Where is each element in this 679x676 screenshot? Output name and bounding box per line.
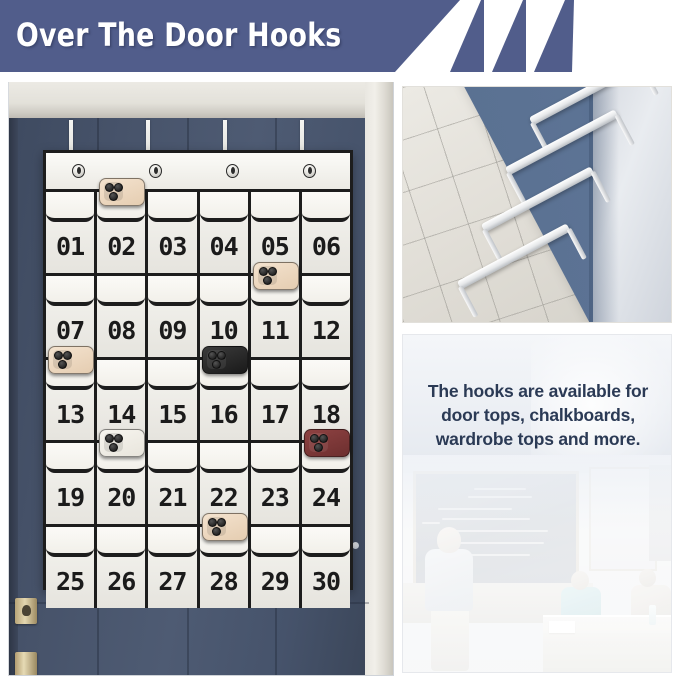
- pocket-number: 20: [97, 483, 145, 512]
- pocket-21: 21: [148, 443, 199, 524]
- phone-in-pocket-11: [253, 262, 299, 290]
- pocket-row: 131415161718: [46, 360, 350, 441]
- pocket-number: 01: [46, 232, 94, 261]
- pocket-18: 18: [302, 360, 350, 441]
- pocket-lip: [148, 443, 196, 473]
- pocket-15: 15: [148, 360, 199, 441]
- pocket-lip: [46, 276, 94, 306]
- phone-in-pocket-24: [304, 429, 350, 457]
- pocket-number: 16: [200, 400, 248, 429]
- door-frame-left: [9, 118, 18, 675]
- pocket-number: 09: [148, 316, 196, 345]
- keyhole-icon: [22, 605, 31, 616]
- pocket-28: 28: [200, 527, 251, 608]
- pocket-number: 15: [148, 400, 196, 429]
- camera-lens-icon: [212, 527, 221, 536]
- pocket-22: 22: [200, 443, 251, 524]
- classroom-photo: [403, 455, 671, 673]
- pocket-13: 13: [46, 360, 97, 441]
- camera-lens-icon: [208, 518, 217, 527]
- pocket-lip: [97, 276, 145, 306]
- pocket-number: 12: [302, 316, 350, 345]
- camera-lens-icon: [63, 351, 72, 360]
- pocket-lip: [200, 443, 248, 473]
- pocket-row: 010203040506: [46, 192, 350, 273]
- pocket-17: 17: [251, 360, 302, 441]
- pocket-row: 070809101112: [46, 276, 350, 357]
- camera-lens-icon: [268, 267, 277, 276]
- pocket-number: 30: [302, 567, 350, 596]
- pocket-30: 30: [302, 527, 350, 608]
- pocket-lip: [251, 443, 299, 473]
- pocket-number: 27: [148, 567, 196, 596]
- usage-panel: The hooks are available for door tops, c…: [402, 334, 672, 673]
- pocket-lip: [302, 192, 350, 222]
- pocket-27: 27: [148, 527, 199, 608]
- pocket-07: 07: [46, 276, 97, 357]
- pocket-16: 16: [200, 360, 251, 441]
- camera-lens-icon: [212, 360, 221, 369]
- pocket-08: 08: [97, 276, 148, 357]
- pocket-number: 11: [251, 316, 299, 345]
- header-banner: Over The Door Hooks: [0, 0, 679, 74]
- chart-header-band: [46, 153, 350, 192]
- pocket-number: 14: [97, 400, 145, 429]
- pocket-lip: [302, 527, 350, 557]
- pocket-number: 23: [251, 483, 299, 512]
- pocket-number: 13: [46, 400, 94, 429]
- pocket-lip: [200, 276, 248, 306]
- usage-caption: The hooks are available for door tops, c…: [411, 379, 665, 451]
- door-jamb-right: [365, 82, 393, 675]
- hanging-strap-3: [223, 120, 227, 154]
- camera-lens-icon: [217, 351, 226, 360]
- pocket-25: 25: [46, 527, 97, 608]
- pocket-lip: [148, 527, 196, 557]
- camera-lens-icon: [54, 351, 63, 360]
- hanging-strap-2: [146, 120, 150, 154]
- door-lock-plate: [15, 598, 37, 624]
- pocket-number: 05: [251, 232, 299, 261]
- pocket-lip: [251, 360, 299, 390]
- pocket-lip: [46, 527, 94, 557]
- pocket-number: 24: [302, 483, 350, 512]
- pocket-lip: [148, 360, 196, 390]
- pocket-14: 14: [97, 360, 148, 441]
- pocket-lip: [97, 360, 145, 390]
- product-image-canvas: Over The Door Hooks 01020304050607080910: [0, 0, 679, 675]
- pocket-02: 02: [97, 192, 148, 273]
- pocket-number: 17: [251, 400, 299, 429]
- pocket-grid: 0102030405060708091011121314151617181920…: [46, 192, 350, 608]
- hanging-strap-4: [300, 120, 304, 154]
- pocket-number: 04: [200, 232, 248, 261]
- pocket-12: 12: [302, 276, 350, 357]
- pocket-11: 11: [251, 276, 302, 357]
- pocket-number: 25: [46, 567, 94, 596]
- pocket-lip: [148, 192, 196, 222]
- hooks-detail-photo: [402, 86, 672, 323]
- pocket-19: 19: [46, 443, 97, 524]
- pocket-24: 24: [302, 443, 350, 524]
- pocket-row: 192021222324: [46, 443, 350, 524]
- pocket-number: 26: [97, 567, 145, 596]
- hanging-strap-1: [69, 120, 73, 154]
- banner-stripe-3: [534, 0, 574, 72]
- wall-ceiling-trim: [9, 82, 393, 120]
- pocket-lip: [251, 527, 299, 557]
- pocket-number: 18: [302, 400, 350, 429]
- camera-lens-icon: [217, 518, 226, 527]
- pocket-23: 23: [251, 443, 302, 524]
- pocket-lip: [251, 192, 299, 222]
- main-product-photo: 0102030405060708091011121314151617181920…: [8, 82, 394, 676]
- camera-lens-icon: [259, 267, 268, 276]
- pocket-01: 01: [46, 192, 97, 273]
- pocket-lip: [97, 527, 145, 557]
- pocket-number: 21: [148, 483, 196, 512]
- page-title: Over The Door Hooks: [16, 16, 342, 54]
- pocket-number: 08: [97, 316, 145, 345]
- pocket-number: 06: [302, 232, 350, 261]
- door-handle-plate: [15, 652, 37, 676]
- phone-in-pocket-20: [99, 429, 145, 457]
- camera-lens-icon: [263, 276, 272, 285]
- pocket-lip: [46, 192, 94, 222]
- pocket-number: 28: [200, 567, 248, 596]
- phone-in-pocket-28: [202, 513, 248, 541]
- pocket-number: 22: [200, 483, 248, 512]
- pocket-number: 07: [46, 316, 94, 345]
- pocket-lip: [302, 276, 350, 306]
- banner-stripe-1: [450, 0, 484, 72]
- pocket-lip: [200, 192, 248, 222]
- classroom-gradient-overlay: [403, 455, 671, 673]
- pocket-chart: 0102030405060708091011121314151617181920…: [43, 150, 353, 590]
- pocket-10: 10: [200, 276, 251, 357]
- pocket-03: 03: [148, 192, 199, 273]
- pocket-number: 02: [97, 232, 145, 261]
- pocket-20: 20: [97, 443, 148, 524]
- phone-in-pocket-02: [99, 178, 145, 206]
- pocket-09: 09: [148, 276, 199, 357]
- grommet-icon-4: [303, 164, 316, 178]
- pocket-29: 29: [251, 527, 302, 608]
- pocket-06: 06: [302, 192, 350, 273]
- grommet-icon-3: [226, 164, 239, 178]
- pocket-lip: [302, 360, 350, 390]
- pocket-number: 10: [200, 316, 248, 345]
- banner-stripe-2: [492, 0, 526, 72]
- camera-lens-icon: [208, 351, 217, 360]
- phone-in-pocket-16: [202, 346, 248, 374]
- pocket-lip: [46, 443, 94, 473]
- door-highlight-dot: [352, 542, 359, 549]
- pocket-number: 03: [148, 232, 196, 261]
- pocket-26: 26: [97, 527, 148, 608]
- pocket-04: 04: [200, 192, 251, 273]
- phone-in-pocket-13: [48, 346, 94, 374]
- camera-lens-icon: [58, 360, 67, 369]
- pocket-05: 05: [251, 192, 302, 273]
- pocket-number: 19: [46, 483, 94, 512]
- pocket-lip: [148, 276, 196, 306]
- grommet-icon-2: [149, 164, 162, 178]
- grommet-icon-1: [72, 164, 85, 178]
- pocket-number: 29: [251, 567, 299, 596]
- pocket-row: 252627282930: [46, 527, 350, 608]
